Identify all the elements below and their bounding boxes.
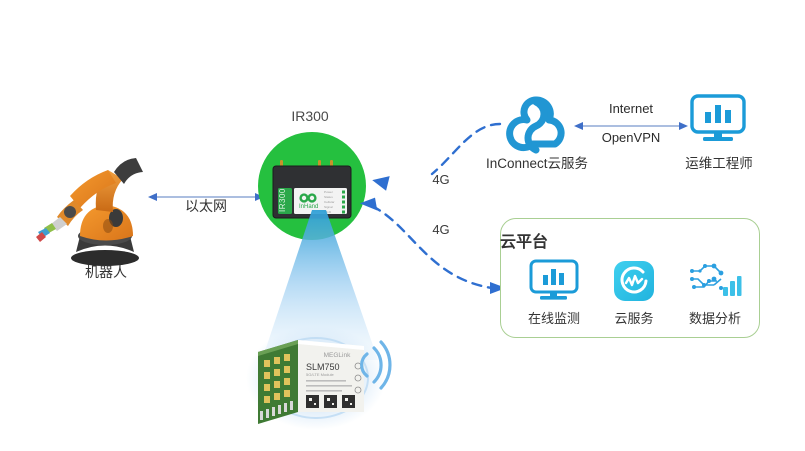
router-title: IR300 bbox=[255, 108, 365, 124]
engineer-label: 运维工程师 bbox=[684, 152, 754, 172]
diagram-canvas: 机器人 以太网 IR300 IR300 InHand Power bbox=[0, 0, 805, 451]
platform-item-label: 在线监测 bbox=[514, 308, 594, 327]
platform-item-label: 云服务 bbox=[594, 308, 674, 327]
svg-text:SLM750: SLM750 bbox=[306, 362, 340, 372]
data-analysis-icon bbox=[675, 258, 755, 304]
cloud-service-app-icon bbox=[594, 258, 674, 304]
svg-text:5G/LTE Module: 5G/LTE Module bbox=[306, 372, 334, 377]
platform-item-cloud-service[interactable]: 云服务 bbox=[594, 258, 674, 327]
ethernet-label: 以太网 bbox=[163, 196, 249, 216]
svg-text:Cellular: Cellular bbox=[324, 200, 335, 204]
cellular-label-bottom: 4G bbox=[428, 222, 454, 237]
svg-text:Status: Status bbox=[324, 195, 333, 199]
svg-text:Signal: Signal bbox=[324, 205, 333, 209]
platform-item-data-analysis[interactable]: 数据分析 bbox=[675, 258, 755, 327]
monitor-chart-icon bbox=[514, 258, 594, 304]
lte-module-icon: MEGLink SLM750 5G/LTE Module bbox=[236, 316, 406, 436]
platform-item-label: 数据分析 bbox=[675, 308, 755, 327]
inconnect-label: InConnect云服务 bbox=[476, 152, 598, 172]
cloud-loop-icon bbox=[500, 92, 572, 154]
platform-item-monitoring[interactable]: 在线监测 bbox=[514, 258, 594, 327]
robot-label: 机器人 bbox=[58, 262, 154, 282]
cellular-label-top: 4G bbox=[428, 172, 454, 187]
openvpn-label: OpenVPN bbox=[578, 130, 684, 145]
internet-label: Internet bbox=[578, 101, 684, 116]
cloud-platform-title: 云平台 bbox=[500, 228, 758, 252]
svg-text:MEGLink: MEGLink bbox=[324, 352, 351, 359]
monitor-chart-icon bbox=[688, 94, 748, 144]
svg-text:Power: Power bbox=[324, 190, 333, 194]
svg-text:IR300: IR300 bbox=[278, 188, 287, 212]
